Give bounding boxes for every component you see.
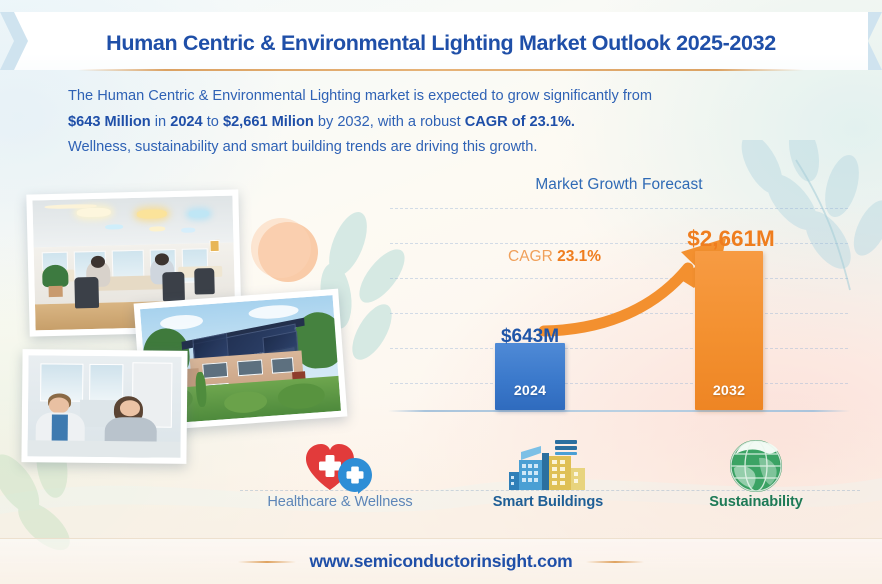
intro-paragraph: The Human Centric & Environmental Lighti… [68, 84, 768, 161]
header-ribbon: Human Centric & Environmental Lighting M… [0, 12, 882, 70]
intro-line-1: The Human Centric & Environmental Lighti… [68, 84, 768, 110]
chart-title: Market Growth Forecast [388, 176, 850, 194]
bar-2032: 2032 [695, 251, 763, 410]
page-title: Human Centric & Environmental Lighting M… [0, 31, 882, 56]
feature-sustainability[interactable]: Sustainability [656, 438, 856, 510]
footer-website-url[interactable]: www.semiconductorinsight.com [0, 551, 882, 572]
buildings-icon [505, 438, 591, 494]
market-growth-chart: Market Growth Forecast 2024 $643M 2032 $… [388, 176, 850, 422]
intro-line-3: Wellness, sustainability and smart build… [68, 135, 768, 161]
footer-bar: www.semiconductorinsight.com [0, 538, 882, 584]
intro-line-3-text: Wellness, sustainability and smart build… [68, 139, 537, 155]
heart-plus-icon [300, 438, 380, 494]
cagr-annotation: CAGR 23.1% [508, 248, 601, 266]
bar-2024-value-label: $643M [475, 326, 585, 348]
feature-healthcare-label: Healthcare & Wellness [240, 494, 440, 510]
feature-healthcare[interactable]: Healthcare & Wellness [240, 438, 440, 510]
chart-baseline-axis [388, 410, 850, 412]
intro-line-1-text: The Human Centric & Environmental Lighti… [68, 88, 652, 104]
healthcare-consultation-photo [21, 349, 187, 464]
cagr-annotation-label: CAGR [508, 248, 557, 265]
feature-highlights: Healthcare & Wellness [240, 438, 860, 530]
year-2024-inline: 2024 [170, 114, 202, 130]
cagr-inline: CAGR of 23.1%. [465, 114, 575, 130]
cagr-annotation-value: 23.1% [557, 248, 601, 265]
value-2032-inline: $2,661 Milion [223, 114, 314, 130]
value-2024-inline: $643 Million [68, 114, 151, 130]
bar-2024: 2024 [495, 343, 565, 410]
intro-line-2: $643 Million in 2024 to $2,661 Milion by… [68, 110, 768, 136]
bar-2024-year-label: 2024 [495, 383, 565, 399]
bar-2032-value-label: $2,661M [666, 226, 796, 252]
feature-sustainability-label: Sustainability [656, 494, 856, 510]
green-globe-icon [726, 438, 786, 494]
title-underline [78, 69, 804, 71]
feature-smart-buildings[interactable]: Smart Buildings [448, 438, 648, 510]
feature-smart-buildings-label: Smart Buildings [448, 494, 648, 510]
bar-2032-year-label: 2032 [695, 383, 763, 399]
